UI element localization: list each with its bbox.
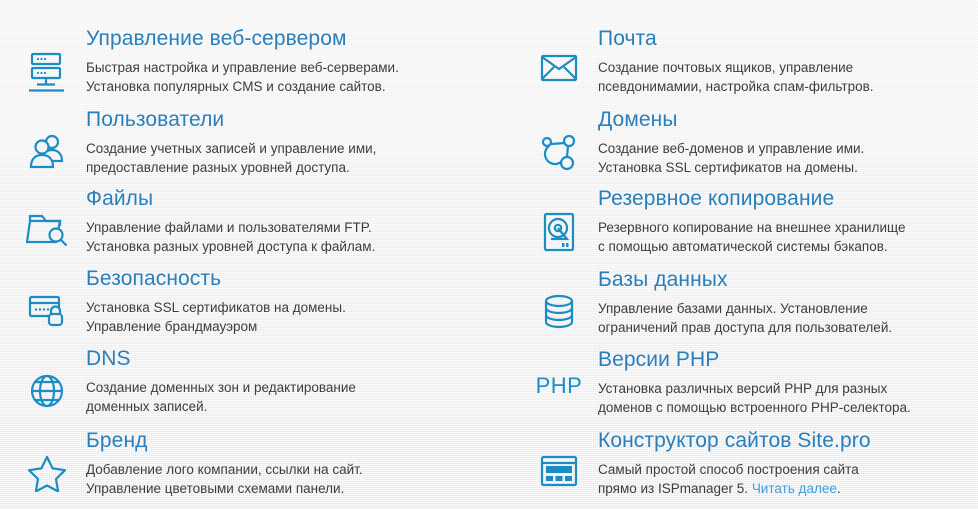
read-more-link[interactable]: Читать далее (752, 481, 837, 496)
feature-text: Резервное копирование Резервного копиров… (598, 186, 905, 256)
feature-title: Почта (598, 26, 874, 52)
feature-description: Установка SSL сертификатов на домены. Уп… (86, 298, 346, 336)
feature-databases[interactable]: Базы данных Управление базами данных. Ус… (520, 267, 892, 337)
feature-mail[interactable]: Почта Создание почтовых ящиков, управлен… (520, 26, 874, 96)
feature-description: Самый простой способ построения сайта пр… (598, 460, 871, 498)
desc-line: Создание доменных зон и редактирование (86, 378, 356, 397)
feature-title: Домены (598, 107, 864, 133)
desc-line-with-link: прямо из ISPmanager 5. Читать далее. (598, 479, 871, 498)
feature-description: Быстрая настройка и управление веб-серве… (86, 58, 399, 96)
feature-dns[interactable]: DNS Создание доменных зон и редактирован… (8, 346, 356, 416)
desc-line: Управление брандмауэром (86, 317, 346, 336)
feature-title: Бренд (86, 428, 363, 454)
desc-line: доменов с помощью встроенного PHP-селект… (598, 398, 911, 417)
feature-title: Резервное копирование (598, 186, 905, 212)
desc-line: псевдонимамии, настройка спам-фильтров. (598, 77, 874, 96)
site-builder-icon (520, 428, 598, 488)
feature-description: Установка различных версий PHP для разны… (598, 379, 911, 417)
feature-title: Управление веб-сервером (86, 26, 399, 52)
desc-line: с помощью автоматической системы бэкапов… (598, 237, 905, 256)
feature-title: Версии PHP (598, 347, 911, 373)
feature-site-builder[interactable]: Конструктор сайтов Site.pro Самый просто… (520, 428, 871, 498)
envelope-icon (520, 26, 598, 84)
desc-line-suffix: . (837, 481, 841, 496)
users-icon (8, 107, 86, 171)
feature-domains[interactable]: Домены Создание веб-доменов и управление… (520, 107, 864, 177)
folder-search-icon (8, 186, 86, 248)
feature-security[interactable]: Безопасность Установка SSL сертификатов … (8, 266, 346, 336)
feature-title: Конструктор сайтов Site.pro (598, 428, 871, 454)
feature-title: Пользователи (86, 107, 376, 133)
desc-line: Быстрая настройка и управление веб-серве… (86, 58, 399, 77)
feature-title: Файлы (86, 186, 375, 212)
php-wordmark-icon: PHP (520, 347, 598, 399)
desc-line: Установка разных уровней доступа к файла… (86, 237, 375, 256)
feature-description: Добавление лого компании, ссылки на сайт… (86, 460, 363, 498)
desc-line: Добавление лого компании, ссылки на сайт… (86, 460, 363, 479)
server-rack-icon (8, 26, 86, 92)
feature-description: Создание веб-доменов и управление ими. У… (598, 139, 864, 177)
feature-files[interactable]: Файлы Управление файлами и пользователям… (8, 186, 375, 256)
feature-text: Конструктор сайтов Site.pro Самый просто… (598, 428, 871, 498)
network-nodes-icon (520, 107, 598, 173)
desc-line: Установка популярных CMS и создание сайт… (86, 77, 399, 96)
feature-text: Версии PHP Установка различных версий PH… (598, 347, 911, 417)
desc-line: предоставление разных уровней доступа. (86, 158, 376, 177)
card-lock-icon (8, 266, 86, 328)
feature-text: Бренд Добавление лого компании, ссылки н… (86, 428, 363, 498)
php-wordmark-text: PHP (536, 373, 583, 399)
feature-text: Пользователи Создание учетных записей и … (86, 107, 376, 177)
feature-title: Базы данных (598, 267, 892, 293)
feature-title: DNS (86, 346, 356, 372)
star-icon (8, 428, 86, 492)
feature-text: Домены Создание веб-доменов и управление… (598, 107, 864, 177)
desc-line: Создание учетных записей и управление им… (86, 139, 376, 158)
features-page: Управление веб-сервером Быстрая настройк… (0, 0, 978, 509)
feature-text: Почта Создание почтовых ящиков, управлен… (598, 26, 874, 96)
feature-text: Базы данных Управление базами данных. Ус… (598, 267, 892, 337)
feature-web-server[interactable]: Управление веб-сервером Быстрая настройк… (8, 26, 399, 96)
desc-line: Установка SSL сертификатов на домены. (598, 158, 864, 177)
feature-brand[interactable]: Бренд Добавление лого компании, ссылки н… (8, 428, 363, 498)
feature-description: Создание учетных записей и управление им… (86, 139, 376, 177)
feature-description: Создание почтовых ящиков, управление псе… (598, 58, 874, 96)
desc-line: Создание почтовых ящиков, управление (598, 58, 874, 77)
feature-php-versions[interactable]: PHP Версии PHP Установка различных верси… (520, 347, 911, 417)
feature-description: Создание доменных зон и редактирование д… (86, 378, 356, 416)
feature-backup[interactable]: Резервное копирование Резервного копиров… (520, 186, 905, 256)
desc-line: Управление базами данных. Установление (598, 299, 892, 318)
desc-line: Установка SSL сертификатов на домены. (86, 298, 346, 317)
desc-line-prefix: прямо из ISPmanager 5. (598, 481, 752, 496)
desc-line: Управление цветовыми схемами панели. (86, 479, 363, 498)
feature-text: Файлы Управление файлами и пользователям… (86, 186, 375, 256)
feature-text: Управление веб-сервером Быстрая настройк… (86, 26, 399, 96)
feature-text: Безопасность Установка SSL сертификатов … (86, 266, 346, 336)
feature-description: Управление файлами и пользователями FTP.… (86, 218, 375, 256)
desc-line: доменных записей. (86, 397, 356, 416)
desc-line: Резервного копирование на внешнее хранил… (598, 218, 905, 237)
desc-line: ограничений прав доступа для пользовател… (598, 318, 892, 337)
feature-users[interactable]: Пользователи Создание учетных записей и … (8, 107, 376, 177)
database-icon (520, 267, 598, 331)
desc-line: Управление файлами и пользователями FTP. (86, 218, 375, 237)
feature-description: Управление базами данных. Установление о… (598, 299, 892, 337)
desc-line: Установка различных версий PHP для разны… (598, 379, 911, 398)
feature-description: Резервного копирование на внешнее хранил… (598, 218, 905, 256)
feature-text: DNS Создание доменных зон и редактирован… (86, 346, 356, 416)
desc-line: Самый простой способ построения сайта (598, 460, 871, 479)
feature-title: Безопасность (86, 266, 346, 292)
globe-icon (8, 346, 86, 410)
desc-line: Создание веб-доменов и управление ими. (598, 139, 864, 158)
hard-drive-icon (520, 186, 598, 252)
